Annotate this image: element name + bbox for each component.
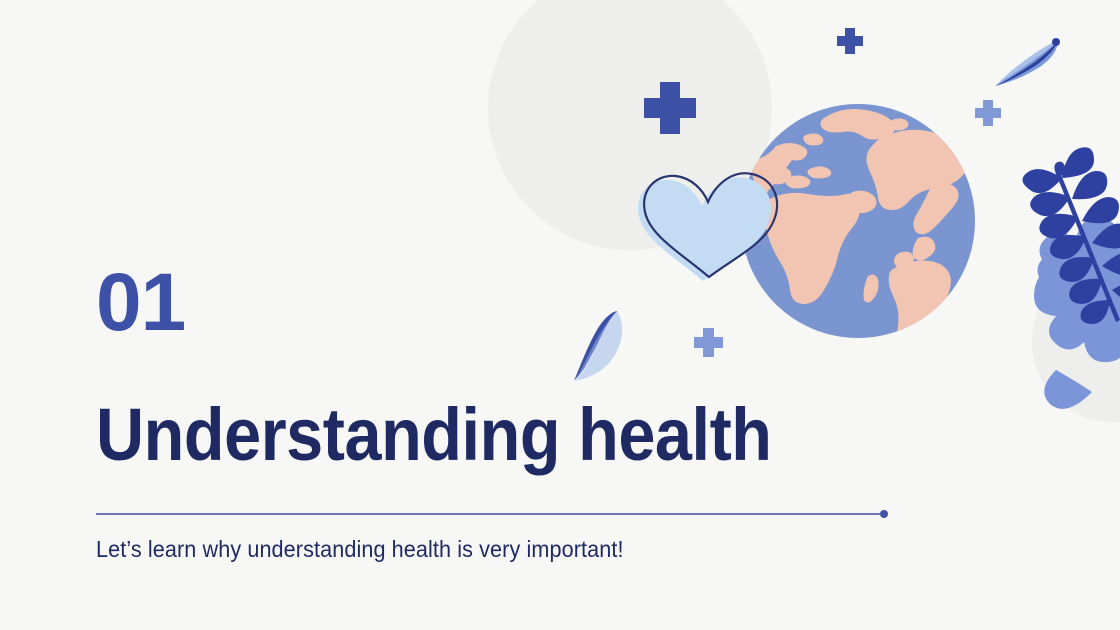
medical-cross-large [644, 82, 696, 134]
lobed-leaf [1034, 218, 1120, 409]
divider [96, 510, 886, 518]
background-circle-small [1032, 262, 1120, 422]
page-title: Understanding health [96, 398, 772, 472]
divider-dot [880, 510, 888, 518]
divider-line [96, 513, 886, 515]
background-circle-large [488, 0, 772, 250]
slide-subtitle: Let’s learn why understanding health is … [96, 536, 624, 563]
slide-text-block: 01 Understanding health Let’s learn why … [96, 264, 896, 348]
section-number: 01 [96, 264, 896, 348]
medical-cross-small-right [975, 100, 1001, 126]
slide-root: 01 Understanding health Let’s learn why … [0, 0, 1120, 630]
leaf-top-right [995, 38, 1060, 86]
medical-cross-small-top [837, 28, 863, 54]
heart-outline [644, 173, 777, 277]
fern-branch [1022, 147, 1120, 324]
